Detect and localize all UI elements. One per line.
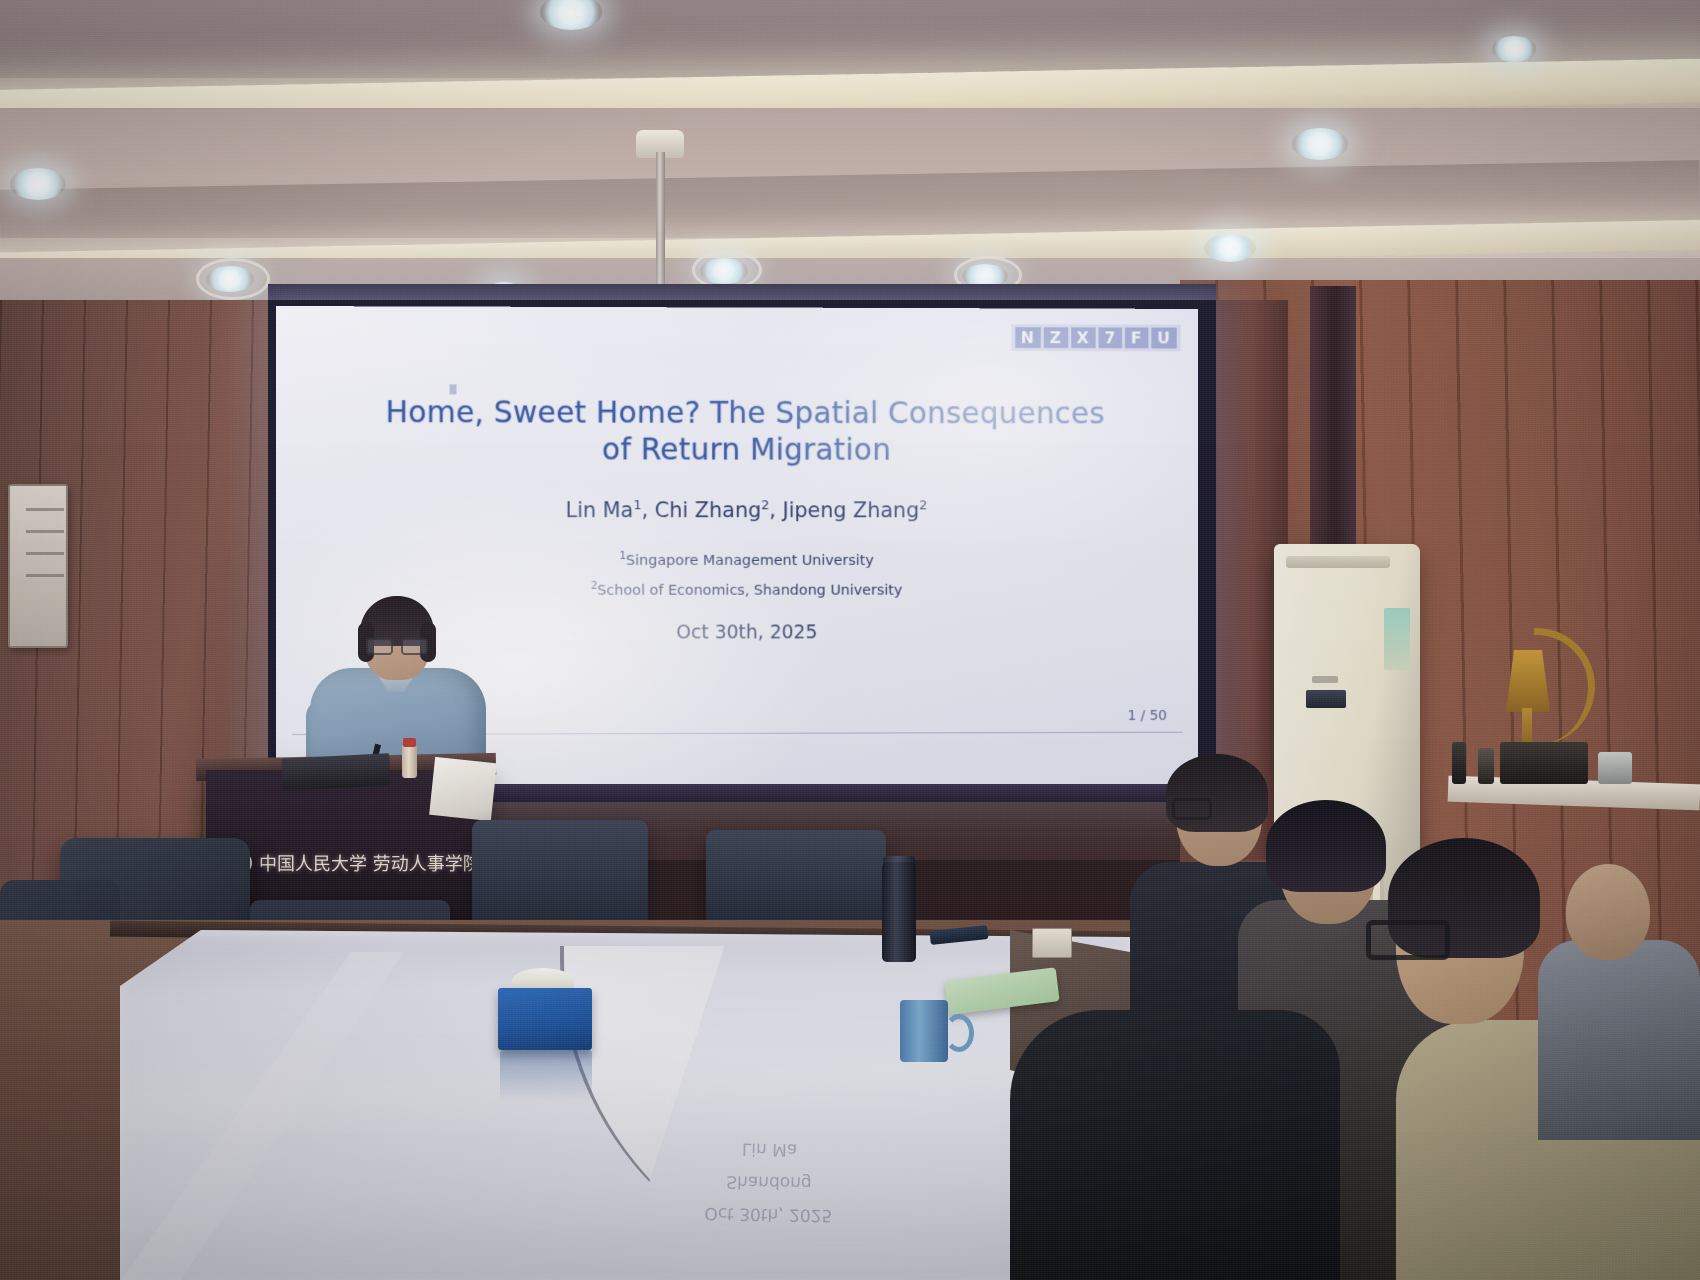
watermark-char: N	[1015, 327, 1041, 348]
shelf-object	[1500, 742, 1588, 784]
watermark-char: U	[1151, 328, 1176, 349]
downlight-icon	[1292, 128, 1348, 160]
slide-affiliation-1: 1Singapore Management University	[380, 550, 1110, 569]
tissue-box[interactable]	[498, 988, 592, 1050]
watermark-char: 7	[1098, 327, 1122, 348]
watermark-char: X	[1071, 327, 1096, 348]
ac-energy-label	[1384, 608, 1410, 670]
downlight-icon	[10, 168, 66, 200]
author-name: Lin Ma1, Chi Zhang2, Jipeng Zhang2	[565, 498, 927, 522]
slide-title: Home, Sweet Home? The Spatial Consequenc…	[380, 394, 1110, 469]
shelf-object	[1598, 752, 1632, 784]
mug-handle	[944, 1014, 974, 1052]
mouse-cursor-icon	[450, 384, 457, 394]
audience-hair	[1266, 800, 1386, 892]
podium-laptop[interactable]	[281, 753, 391, 791]
audience-member	[1538, 940, 1700, 1140]
shelf-object	[1452, 742, 1466, 784]
watermark-char: Z	[1044, 327, 1068, 348]
thermos-flask[interactable]	[882, 862, 916, 962]
ac-brand-label	[1312, 676, 1338, 683]
slide-affiliation-2: 2School of Economics, Shandong Universit…	[380, 580, 1110, 599]
watermark-char: F	[1125, 328, 1148, 349]
presenter-glasses-icon	[366, 638, 428, 651]
water-bottle-cap	[403, 738, 416, 747]
downlight-ring	[196, 258, 270, 300]
audience-head	[1566, 864, 1650, 960]
affiliation-text: Singapore Management University	[626, 553, 874, 569]
power-outlet[interactable]	[1032, 928, 1072, 958]
slide-watermark: N Z X 7 F U	[1011, 324, 1181, 351]
downlight-icon	[1204, 234, 1256, 262]
right-wall-pillar-dark	[1310, 286, 1356, 586]
audience-hair	[1166, 754, 1268, 832]
mug[interactable]	[900, 1000, 948, 1062]
affiliation-text: School of Economics, Shandong University	[597, 583, 902, 599]
water-bottle	[402, 744, 417, 778]
wall-notice-panel	[8, 484, 68, 648]
podium-institution-logo: 中国人民大学 劳动人事学院	[228, 848, 468, 878]
audience-glasses-icon	[1366, 920, 1450, 960]
slide-authors: Lin Ma1, Chi Zhang2, Jipeng Zhang2	[380, 498, 1110, 522]
ac-display-panel[interactable]	[1306, 690, 1346, 708]
ac-top-vent	[1286, 556, 1390, 568]
podium-logo-text: 中国人民大学 劳动人事学院	[259, 850, 481, 876]
slide-date: Oct 30th, 2025	[380, 621, 1110, 644]
tissue-box-reflection	[500, 1050, 592, 1102]
seminar-room-photo: N Z X 7 F U Home, Sweet Home? The Spatia…	[0, 0, 1700, 1280]
shelf-object	[1478, 748, 1494, 784]
downlight-icon	[1492, 36, 1536, 62]
audience-member	[1010, 1010, 1340, 1280]
slide-page-indicator: 1 / 50	[1128, 708, 1167, 724]
podium-papers	[429, 757, 497, 821]
audience-glasses-icon	[1172, 798, 1212, 820]
